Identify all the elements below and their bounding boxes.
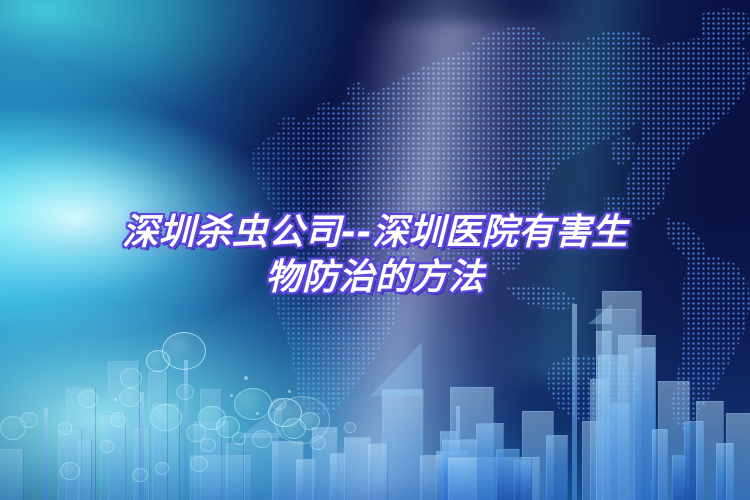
bubble [200, 438, 216, 452]
building [596, 309, 636, 500]
building [344, 437, 372, 500]
bubble [300, 412, 320, 430]
bubble [146, 350, 170, 372]
bubble-dot [244, 376, 248, 380]
building [272, 441, 304, 500]
building [476, 423, 504, 500]
building [436, 451, 468, 500]
bubble [78, 390, 98, 408]
building [66, 387, 96, 500]
building [296, 459, 316, 500]
bubble [234, 388, 272, 420]
building [598, 355, 628, 500]
building [58, 429, 82, 500]
building [546, 435, 568, 500]
building [420, 455, 444, 500]
banner-image: 深圳杀虫公司--深圳医院有害生 物防治的方法 [0, 0, 750, 500]
building [450, 387, 494, 500]
building [382, 389, 424, 500]
bubble [232, 432, 246, 445]
building-spire [184, 360, 188, 500]
bubble [132, 468, 148, 482]
bubble [272, 398, 286, 410]
bubble [60, 462, 80, 480]
building [0, 449, 24, 500]
bubble [20, 412, 38, 428]
building-mast [572, 304, 577, 500]
headline-line-1: 深圳杀虫公司--深圳医院有害生 [0, 210, 750, 255]
building-angled-roof [238, 404, 282, 438]
building [590, 379, 610, 500]
building [194, 421, 230, 500]
bubble [58, 422, 72, 435]
building [78, 439, 92, 500]
building [152, 403, 180, 500]
building [190, 455, 252, 500]
building-spire [456, 406, 460, 500]
bubble-dot [230, 394, 233, 397]
bubble-dot [288, 390, 291, 393]
bubble [120, 368, 142, 388]
building [672, 455, 686, 500]
building [696, 401, 724, 500]
bubble [119, 388, 141, 407]
building [148, 371, 168, 500]
bubble [0, 416, 26, 440]
building [442, 439, 478, 500]
bubble [162, 332, 206, 370]
bubble [198, 406, 226, 430]
building [582, 421, 614, 500]
bubble [344, 422, 356, 433]
building [618, 335, 656, 500]
teal-light-streak [0, 0, 750, 380]
building-spire [140, 392, 144, 500]
building [522, 411, 554, 500]
building-angled-roof [370, 342, 422, 396]
building [368, 443, 388, 500]
bubble [110, 412, 126, 427]
bubble [216, 416, 240, 438]
bubble [274, 396, 330, 444]
building [658, 381, 690, 500]
bubble [186, 424, 206, 442]
building [726, 413, 750, 500]
bubble [150, 404, 182, 431]
bubble-dot [114, 398, 117, 401]
bubble [310, 436, 326, 450]
building [244, 433, 280, 500]
building [330, 453, 346, 500]
bubble [282, 418, 306, 439]
building [134, 427, 150, 500]
building [652, 429, 668, 500]
building [514, 459, 532, 500]
headline-line-2: 物防治的方法 [0, 255, 750, 300]
bubble [100, 440, 114, 453]
building-tallest [602, 291, 642, 500]
bubble [155, 462, 169, 475]
building [200, 389, 222, 500]
building [496, 449, 520, 500]
bubble [268, 398, 302, 427]
building [448, 457, 540, 500]
bubble [190, 456, 208, 472]
building [440, 431, 458, 500]
building [684, 421, 704, 500]
banner-headline: 深圳杀虫公司--深圳医院有害生 物防治的方法 [0, 210, 750, 300]
building [100, 414, 126, 500]
building [634, 347, 656, 500]
building [608, 403, 630, 500]
building [312, 427, 338, 500]
building [108, 361, 140, 500]
bubble-dot [256, 412, 259, 415]
building-angled-roof [588, 304, 612, 324]
building [716, 443, 734, 500]
bubble [176, 384, 194, 400]
building-spire [44, 408, 48, 500]
building [596, 331, 612, 500]
bubble [252, 430, 272, 448]
building [226, 443, 244, 500]
